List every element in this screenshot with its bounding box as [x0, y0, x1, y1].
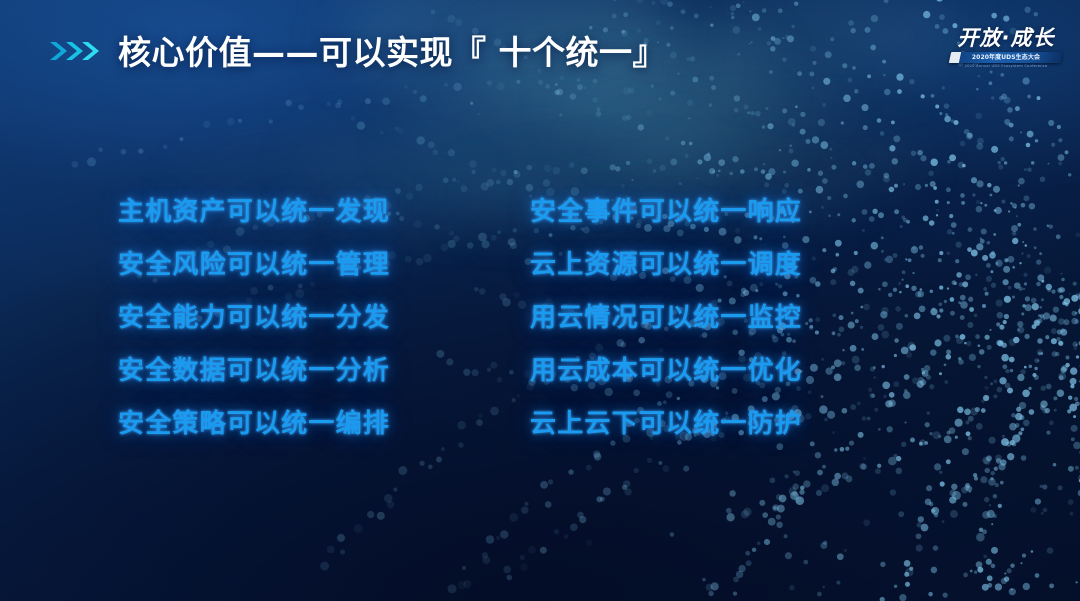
logo-subtitle: 2020年度UDS生态大会	[972, 55, 1040, 61]
list-item: 安全策略可以统一编排	[118, 398, 530, 451]
list-item: 安全能力可以统一分发	[118, 292, 530, 345]
right-column: 安全事件可以统一响应 云上资源可以统一调度 用云情况可以统一监控 用云成本可以统…	[530, 186, 930, 451]
conference-logo: 开放·成长 2020年度UDS生态大会 2020 Annual UDS Ecos…	[950, 28, 1062, 69]
logo-ribbon: 2020年度UDS生态大会	[949, 52, 1063, 63]
list-item: 云上资源可以统一调度	[530, 239, 930, 292]
left-column: 主机资产可以统一发现 安全风险可以统一管理 安全能力可以统一分发 安全数据可以统…	[118, 186, 530, 451]
value-statement-grid: 主机资产可以统一发现 安全风险可以统一管理 安全能力可以统一分发 安全数据可以统…	[0, 186, 1080, 451]
logo-subtitle-en: 2020 Annual UDS Ecosystem Conference	[950, 65, 1062, 68]
page-title: 核心价值——可以实现『 十个统一』	[118, 26, 666, 74]
smoke-wisp	[700, 0, 960, 90]
list-item: 用云成本可以统一优化	[530, 345, 930, 398]
logo-main-text: 开放·成长	[950, 28, 1062, 49]
list-item: 安全事件可以统一响应	[530, 186, 930, 239]
triple-chevron-right-icon	[48, 39, 104, 63]
list-item: 安全数据可以统一分析	[118, 345, 530, 398]
smoke-wisp	[400, 80, 780, 190]
list-item: 安全风险可以统一管理	[118, 239, 530, 292]
slide-canvas: 核心价值——可以实现『 十个统一』 开放·成长 2020年度UDS生态大会 20…	[0, 0, 1080, 601]
slide-header: 核心价值——可以实现『 十个统一』	[48, 26, 666, 74]
list-item: 云上云下可以统一防护	[530, 398, 930, 451]
list-item: 主机资产可以统一发现	[118, 186, 530, 239]
list-item: 用云情况可以统一监控	[530, 292, 930, 345]
